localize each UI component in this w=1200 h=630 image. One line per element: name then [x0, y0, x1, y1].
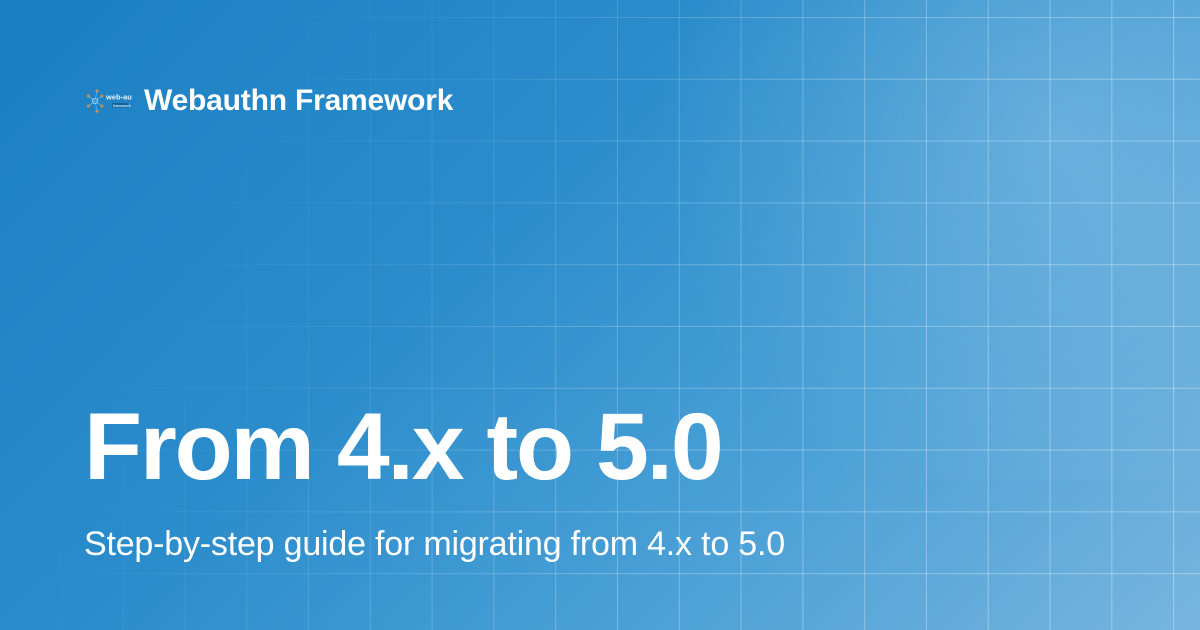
logo-subwordmark-text: framework — [113, 104, 131, 108]
page-title: From 4.x to 5.0 — [84, 400, 1124, 495]
brand-title: Webauthn Framework — [144, 86, 453, 116]
main-content: From 4.x to 5.0 Step-by-step guide for m… — [84, 400, 1124, 564]
web-auth-logo-icon: web-auth framework — [84, 84, 132, 118]
logo-wordmark-text: web-auth — [105, 93, 132, 102]
page-subtitle: Step-by-step guide for migrating from 4.… — [84, 525, 1124, 564]
social-preview-card: web-auth framework Webauthn Framework Fr… — [0, 0, 1200, 630]
brand-header: web-auth framework Webauthn Framework — [84, 84, 453, 118]
